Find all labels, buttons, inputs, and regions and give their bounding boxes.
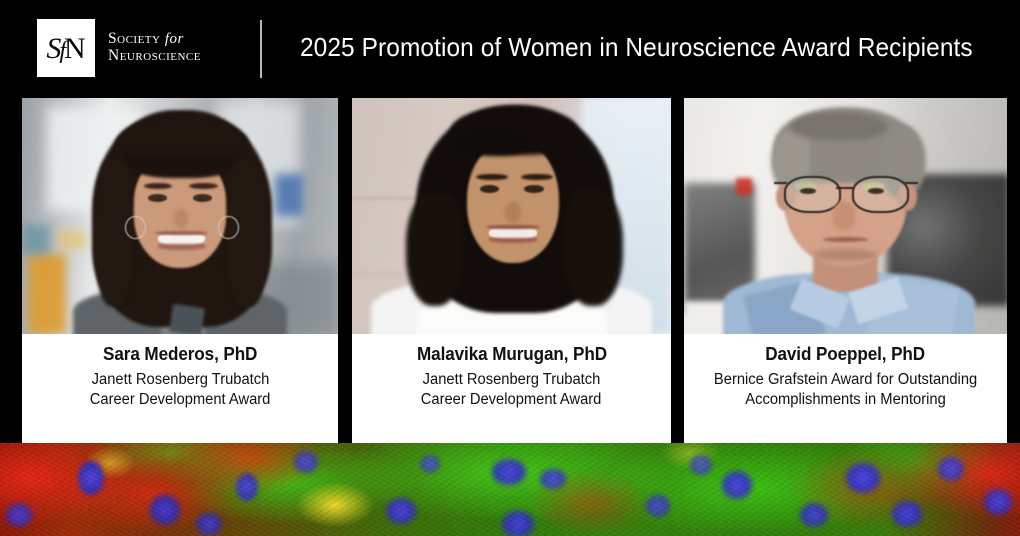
recipient-name: David Poeppel, PhD <box>766 344 926 365</box>
recipient-award-line-1: Janett Rosenberg Trubatch <box>91 370 269 390</box>
sfn-monogram-icon: SfN <box>37 19 95 77</box>
recipient-award-line-2: Accomplishments in Mentoring <box>745 390 946 410</box>
recipient-card: David Poeppel, PhD Bernice Grafstein Awa… <box>684 98 1007 445</box>
wordmark-for: for <box>165 31 184 47</box>
recipient-caption: Malavika Murugan, PhD Janett Rosenberg T… <box>352 334 671 445</box>
sfn-logo-lockup: SfN Society for Neuroscience <box>37 18 201 78</box>
page-title: 2025 Promotion of Women in Neuroscience … <box>300 0 973 94</box>
recipient-name: Malavika Murugan, PhD <box>417 344 607 365</box>
header-vertical-divider <box>260 20 262 78</box>
recipient-award-line-2: Career Development Award <box>421 390 602 410</box>
recipient-caption: David Poeppel, PhD Bernice Grafstein Awa… <box>684 334 1007 445</box>
portrait-sara-mederos <box>22 98 338 334</box>
poster-header: SfN Society for Neuroscience 2025 Promot… <box>0 0 1020 94</box>
award-poster: SfN Society for Neuroscience 2025 Promot… <box>0 0 1020 536</box>
recipient-award-line-2: Career Development Award <box>90 390 271 410</box>
recipient-card: Sara Mederos, PhD Janett Rosenberg Truba… <box>22 98 338 445</box>
wordmark-line-2: Neuroscience <box>108 48 201 64</box>
fluorescence-microscopy-strip <box>0 443 1020 536</box>
svg-text:SfN: SfN <box>46 32 85 65</box>
portrait-malavika-murugan <box>352 98 671 334</box>
recipient-name: Sara Mederos, PhD <box>103 344 257 365</box>
recipient-award-line-1: Janett Rosenberg Trubatch <box>423 370 601 390</box>
portrait-david-poeppel <box>684 98 1007 334</box>
sfn-wordmark: Society for Neuroscience <box>108 31 201 64</box>
wordmark-line-1: Society for <box>108 31 201 48</box>
recipient-caption: Sara Mederos, PhD Janett Rosenberg Truba… <box>22 334 338 445</box>
recipient-award-line-1: Bernice Grafstein Award for Outstanding <box>714 370 977 390</box>
wordmark-society: Society <box>108 30 165 47</box>
recipient-card: Malavika Murugan, PhD Janett Rosenberg T… <box>352 98 671 445</box>
